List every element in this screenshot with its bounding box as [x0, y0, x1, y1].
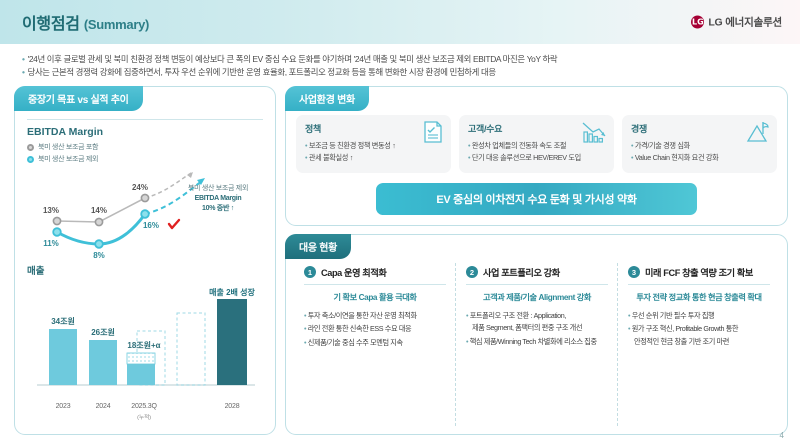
- page-title-en: (Summary): [84, 17, 149, 32]
- logo-text: LG 에너지솔루션: [708, 15, 782, 30]
- divider: [466, 284, 608, 285]
- svg-text:11%: 11%: [43, 239, 59, 248]
- response-number-badge: 3: [628, 266, 640, 278]
- list-item-text: 원가 구조 혁신, Profitable Growth 통한: [632, 324, 738, 333]
- annotation-line-1: 북미 생산 보조금 제외: [175, 184, 261, 194]
- legend-item-with-subsidy: 북미 생산 보조금 포함: [27, 142, 263, 152]
- response-col-capa-head: 1 Capa 운영 최적화: [304, 265, 446, 279]
- legend-label-without-subsidy: 북미 생산 보조금 제외: [38, 154, 98, 164]
- list-item: 신제품/기술 중심 수주 모멘텀 지속: [304, 337, 446, 349]
- summary-bullet-1: •'24년 이후 글로벌 관세 및 북미 친환경 정책 변동이 예상보다 큰 폭…: [22, 53, 780, 66]
- response-col-portfolio-head: 2 사업 포트폴리오 강화: [466, 265, 608, 279]
- bar-label-cumulative-note: (누적): [137, 412, 151, 421]
- bar-label-2023: 2023: [56, 403, 71, 410]
- annotation-line-3: 10% 중반 ↑: [175, 204, 261, 214]
- list-item: 포트폴리오 구조 전환 : Application, 제품 Segment, 폼…: [466, 310, 608, 334]
- bar-axis-labels: 2023 2024 2025.3Q (누적) 2028: [27, 403, 263, 425]
- summary-bullets: •'24년 이후 글로벌 관세 및 북미 친환경 정책 변동이 예상보다 큰 폭…: [0, 44, 800, 83]
- bullet-dot-icon: •: [22, 67, 25, 77]
- list-item: Value Chain 현지화 요건 강화: [631, 152, 768, 164]
- list-item: 라인 전환 통한 신속한 ESS 수요 대응: [304, 323, 446, 335]
- list-item: 단기 대응 솔루션으로 HEV/EREV 도입: [468, 152, 605, 164]
- list-item: 원가 구조 혁신, Profitable Growth 통한 안정적인 현금 창…: [628, 323, 770, 347]
- summary-bullet-2: •당사는 근본적 경쟁력 강화에 집중하면서, 투자 우선 순위에 기반한 운영…: [22, 66, 780, 79]
- divider: [628, 284, 770, 285]
- response-number-badge: 2: [466, 266, 478, 278]
- legend-label-with-subsidy: 북미 생산 보조금 포함: [38, 142, 98, 152]
- legend-item-without-subsidy: 북미 생산 보조금 제외: [27, 154, 263, 164]
- chart-title: EBITDA Margin: [27, 126, 263, 138]
- list-item: 우선 순위 기반 필수 투자 집행: [628, 310, 770, 322]
- legend-marker-icon: [27, 144, 34, 151]
- env-card-policy: 정책 보조금 등 친환경 정책 변동성 ↑ 관세 불확실성 ↑: [296, 115, 451, 173]
- svg-text:34조원: 34조원: [51, 316, 75, 326]
- response-number-badge: 1: [304, 266, 316, 278]
- env-panel-tab: 사업환경 변화: [285, 86, 369, 111]
- lg-logo-mark-icon: LG: [691, 16, 704, 29]
- list-item: 투자 축소/이연을 통한 자산 운영 최적화: [304, 310, 446, 322]
- env-card-customer-demand: 고객/수요 완성차 업체들의 전동화 속도 조절 단기: [459, 115, 614, 173]
- env-card-list: 정책 보조금 등 친환경 정책 변동성 ↑ 관세 불확실성 ↑: [296, 115, 777, 173]
- list-item-text: 포트폴리오 구조 전환 : Application,: [470, 311, 566, 320]
- bar-label-2028: 2028: [225, 403, 240, 410]
- response-col-portfolio-title: 사업 포트폴리오 강화: [483, 265, 560, 279]
- svg-text:18조원+α: 18조원+α: [127, 340, 160, 350]
- divider: [304, 284, 446, 285]
- response-col-portfolio: 2 사업 포트폴리오 강화 고객과 제품/기술 Alignment 강화 포트폴…: [455, 263, 617, 426]
- list-item: 관세 불확실성 ↑: [305, 152, 442, 164]
- response-col-capa-title: Capa 운영 최적화: [321, 265, 386, 279]
- page-title: 이행점검 (Summary): [22, 10, 149, 34]
- chart-panel: 중장기 목표 vs 실적 추이 EBITDA Margin 북미 생산 보조금 …: [14, 86, 276, 435]
- mountain-flag-icon: [746, 120, 770, 149]
- summary-bullet-2-text: 당사는 근본적 경쟁력 강화에 집중하면서, 투자 우선 순위에 기반한 운영 …: [28, 67, 496, 77]
- bar-label-2025-3q: 2025.3Q: [131, 403, 156, 410]
- svg-text:16%: 16%: [143, 221, 159, 230]
- svg-text:26조원: 26조원: [91, 327, 115, 337]
- right-column: 사업환경 변화 정책 보조금 등 친환경 정책 변동: [285, 86, 788, 435]
- svg-text:14%: 14%: [91, 206, 107, 215]
- bullet-dot-icon: •: [22, 54, 25, 64]
- response-col-fcf-head: 3 미래 FCF 창출 역량 조기 확보: [628, 265, 770, 279]
- slide-body: 중장기 목표 vs 실적 추이 EBITDA Margin 북미 생산 보조금 …: [0, 83, 800, 435]
- declining-bar-chart-icon: [581, 120, 607, 149]
- response-status-panel: 대응 현황 1 Capa 운영 최적화 기 확보 Capa 활용 극대화 투자 …: [285, 234, 788, 435]
- svg-text:24%: 24%: [132, 183, 148, 192]
- slide-header: 이행점검 (Summary) LG LG 에너지솔루션: [0, 0, 800, 44]
- company-logo: LG LG 에너지솔루션: [691, 15, 782, 30]
- response-col-capa: 1 Capa 운영 최적화 기 확보 Capa 활용 극대화 투자 축소/이연을…: [294, 263, 455, 426]
- document-check-icon: [422, 120, 444, 149]
- ev-banner-wrap: EV 중심의 이차전지 수요 둔화 및 가시성 약화: [296, 183, 777, 215]
- chart-panel-tab: 중장기 목표 vs 실적 추이: [14, 86, 143, 111]
- chart-divider: [27, 119, 263, 120]
- revenue-axis-label: 매출: [27, 263, 263, 277]
- response-panel-tab: 대응 현황: [285, 234, 351, 259]
- svg-text:13%: 13%: [43, 206, 59, 215]
- response-col-portfolio-items: 포트폴리오 구조 전환 : Application, 제품 Segment, 폼…: [466, 310, 608, 348]
- legend-marker-icon: [27, 156, 34, 163]
- bar-chart-svg: 매출 2배 성장 34조원 26조원: [27, 283, 265, 403]
- list-item-continuation: 제품 Segment, 폼팩터의 편중 구조 개선: [466, 322, 608, 334]
- env-card-competition: 경쟁 가격/기술 경쟁 심화 Value Chain 현지화 요건 강화: [622, 115, 777, 173]
- response-col-fcf: 3 미래 FCF 창출 역량 조기 확보 투자 전략 정교화 통한 현금 창출력…: [617, 263, 779, 426]
- response-col-portfolio-subtitle: 고객과 제품/기술 Alignment 강화: [466, 291, 608, 303]
- business-environment-panel: 사업환경 변화 정책 보조금 등 친환경 정책 변동: [285, 86, 788, 226]
- list-item: 핵심 제품/Winning Tech 차별화에 리소스 집중: [466, 336, 608, 348]
- list-item-continuation: 안정적인 현금 창출 기반 조기 마련: [628, 336, 770, 348]
- ebitda-margin-line-chart: 13% 14% 24% 11% 8% 16% 북미 생산 보조금 제외 EBIT…: [27, 166, 263, 261]
- chart-column: 중장기 목표 vs 실적 추이 EBITDA Margin 북미 생산 보조금 …: [14, 86, 276, 435]
- response-col-fcf-subtitle: 투자 전략 정교화 통한 현금 창출력 확대: [628, 291, 770, 303]
- revenue-bar-chart: 매출 2배 성장 34조원 26조원: [27, 283, 263, 403]
- annotation-line-2: EBITDA Margin: [175, 194, 261, 204]
- svg-text:매출 2배 성장: 매출 2배 성장: [209, 287, 255, 297]
- bar-label-2024: 2024: [96, 403, 111, 410]
- response-col-fcf-title: 미래 FCF 창출 역량 조기 확보: [645, 265, 753, 279]
- svg-text:8%: 8%: [93, 251, 105, 260]
- response-column-list: 1 Capa 운영 최적화 기 확보 Capa 활용 극대화 투자 축소/이연을…: [294, 263, 779, 426]
- ev-demand-banner: EV 중심의 이차전지 수요 둔화 및 가시성 약화: [376, 183, 696, 215]
- page-title-ko: 이행점검: [22, 16, 80, 33]
- response-col-capa-subtitle: 기 확보 Capa 활용 극대화: [304, 291, 446, 303]
- response-col-fcf-items: 우선 순위 기반 필수 투자 집행 원가 구조 혁신, Profitable G…: [628, 310, 770, 348]
- summary-bullet-1-text: '24년 이후 글로벌 관세 및 북미 친환경 정책 변동이 예상보다 큰 폭의…: [28, 54, 558, 64]
- chart-annotation: 북미 생산 보조금 제외 EBITDA Margin 10% 중반 ↑: [175, 184, 261, 214]
- response-col-capa-items: 투자 축소/이연을 통한 자산 운영 최적화 라인 전환 통한 신속한 ESS …: [304, 310, 446, 349]
- page-number: 4: [780, 431, 784, 440]
